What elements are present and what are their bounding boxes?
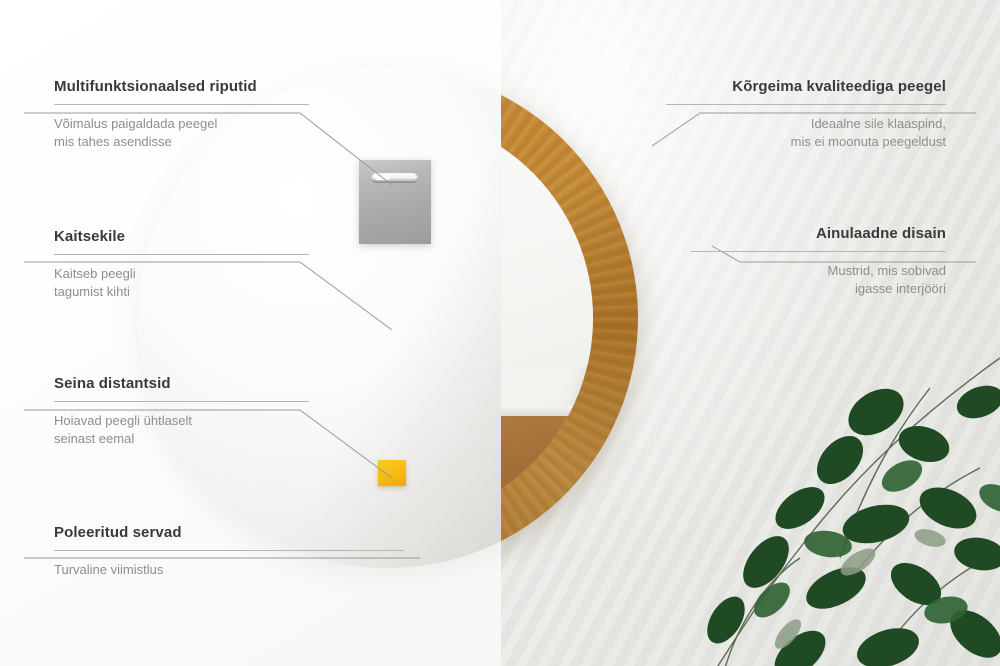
callout-description: Hoiavad peegli ühtlaselt seinast eemal — [54, 412, 309, 448]
callout-rule — [54, 550, 404, 551]
callout-rule — [54, 104, 309, 105]
callout-poleeritud-servad: Poleeritud servad Turvaline viimistlus — [54, 524, 404, 579]
callout-rule — [54, 401, 309, 402]
callout-title: Poleeritud servad — [54, 524, 404, 541]
callout-seina-distantsid: Seina distantsid Hoiavad peegli ühtlasel… — [54, 375, 309, 448]
callout-kaitsekile: Kaitsekile Kaitseb peegli tagumist kihti — [54, 228, 309, 301]
callout-description: Mustrid, mis sobivad igasse interjööri — [691, 262, 946, 298]
callout-rule — [691, 251, 946, 252]
infographic-canvas: Multifunktsionaalsed riputid Võimalus pa… — [0, 0, 1000, 666]
foliage-decoration — [680, 348, 1000, 666]
reflected-wooden-floor — [501, 416, 593, 523]
callout-description: Turvaline viimistlus — [54, 561, 404, 579]
callout-title: Seina distantsid — [54, 375, 309, 392]
reflected-baseboard — [501, 406, 593, 416]
callout-title: Kõrgeima kvaliteediga peegel — [666, 78, 946, 95]
callout-title: Kaitsekile — [54, 228, 309, 245]
callout-rule — [666, 104, 946, 105]
callout-title: Multifunktsionaalsed riputid — [54, 78, 309, 95]
callout-multifunktsionaalsed-riputid: Multifunktsionaalsed riputid Võimalus pa… — [54, 78, 309, 151]
callout-description: Ideaalne sile klaaspind, mis ei moonuta … — [666, 115, 946, 151]
callout-title: Ainulaadne disain — [691, 225, 946, 242]
hanger-slot — [371, 173, 418, 183]
spacer-square-icon — [378, 460, 406, 486]
callout-rule — [54, 254, 309, 255]
mirror-glass-reflection — [501, 113, 593, 523]
callout-description: Võimalus paigaldada peegel mis tahes ase… — [54, 115, 309, 151]
callout-description: Kaitseb peegli tagumist kihti — [54, 265, 309, 301]
reflected-wall — [501, 113, 593, 367]
hanger-bracket-icon — [359, 160, 431, 244]
callout-ainulaadne-disain: Ainulaadne disain Mustrid, mis sobivad i… — [691, 225, 946, 298]
callout-korgeima-kvaliteediga-peegel: Kõrgeima kvaliteediga peegel Ideaalne si… — [666, 78, 946, 151]
